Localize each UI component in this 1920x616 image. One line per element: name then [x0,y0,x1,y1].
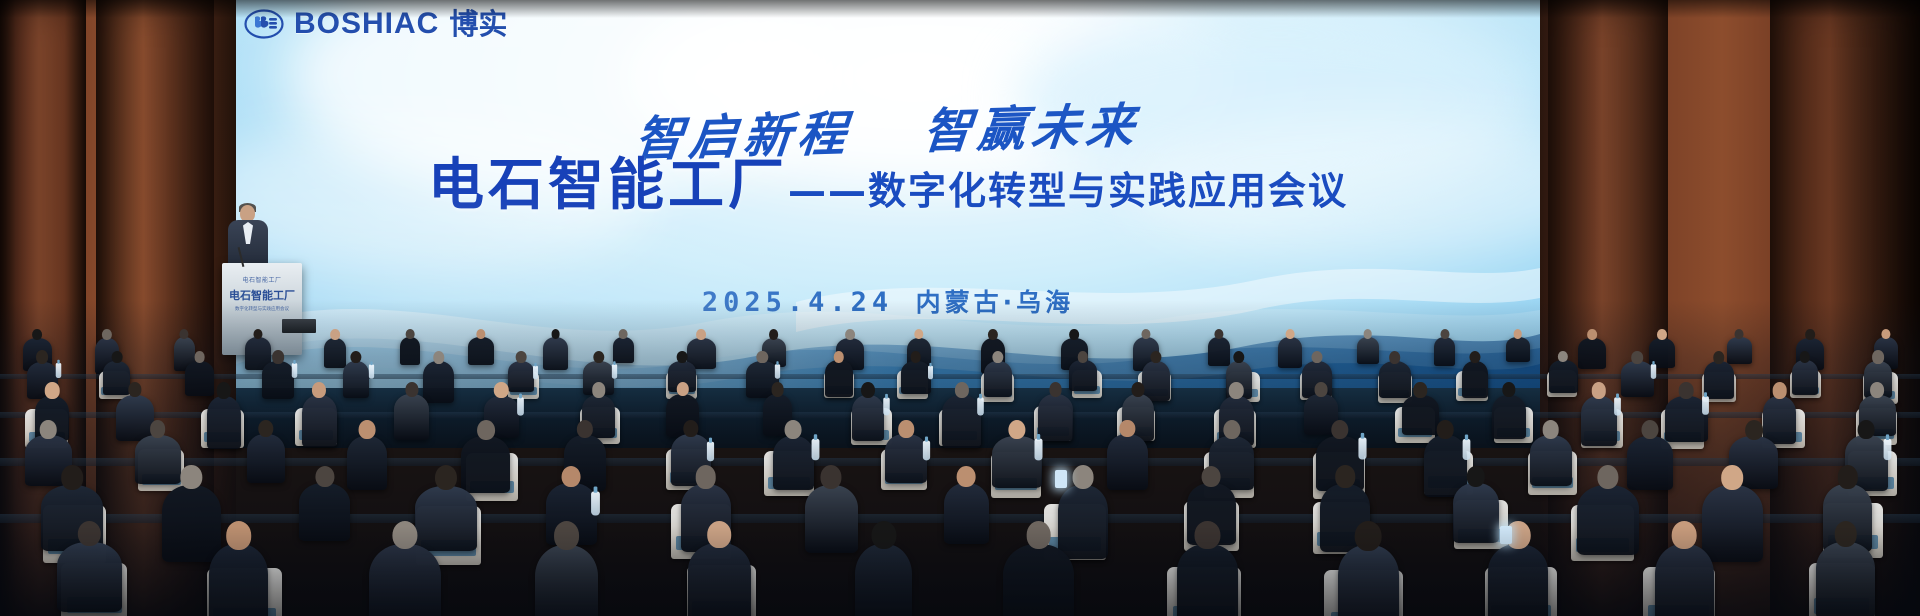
audience-member-head [78,521,100,546]
audience-member-head [350,351,361,364]
audience-member-head [562,466,581,487]
audience-member [1379,361,1412,398]
audience-member [1003,544,1074,616]
audience-member-head [1558,351,1568,363]
audience-member-head [1311,351,1322,363]
audience-member-head [1542,420,1559,439]
audience-member [343,361,369,398]
audience-member [369,544,441,616]
audience-member [855,544,912,616]
audience-member-head [129,382,142,397]
audience-member [1578,338,1605,369]
audience-member-head [1078,351,1088,363]
audience-member-head [102,329,112,341]
audience-member-head [1632,351,1644,364]
audience-member-head [494,382,508,398]
audience-member-head [785,420,802,439]
water-bottle [1651,364,1656,379]
audience-member-head [40,420,57,439]
audience-member [400,337,420,365]
audience-member-head [1331,420,1348,440]
audience-member-head [1713,351,1724,364]
event-subtitle: 数字化转型与实践应用会议 [868,172,1348,214]
audience-member-head [1641,420,1658,439]
audience-member [1577,485,1639,555]
audience-member [508,361,535,393]
audience-member-head [992,351,1003,364]
audience-member [209,544,268,616]
audience-member-head [593,351,604,364]
brand-latin-name: BOSHIAC [294,9,439,39]
audience-member [135,435,181,484]
audience-member-head [1223,420,1240,440]
audience-member-head [708,521,732,548]
audience-member-head [1837,465,1857,488]
audience-member [1453,483,1499,543]
audience-member-head [150,420,166,438]
audience-member [347,436,387,490]
audience-member-head [180,329,189,339]
audience-member-head [1437,420,1454,439]
audience-member-head [477,420,495,440]
audience-member-head [358,420,375,439]
audience-member-head [677,351,688,363]
audience-member-head [1131,382,1144,397]
water-bottle [1615,397,1622,415]
audience-member-head [695,465,716,488]
audience-member-head [910,351,921,363]
audience-member [262,361,294,398]
audience-member-head [111,351,122,363]
audience-member-head [1355,521,1382,551]
audience-member [852,395,884,440]
audience-member [1488,544,1548,616]
audience-member-head [676,382,688,396]
audience-member-head [32,329,42,340]
audience-member [57,542,122,612]
water-bottle [612,364,617,378]
water-bottle [591,491,600,515]
water-bottle [1463,439,1471,460]
audience-member-head [1800,351,1811,363]
slogan-part-2: 智赢未来 [921,98,1143,160]
audience-member-head [1858,420,1875,439]
audience-member-head [392,521,417,550]
audience-member-head [1870,382,1884,398]
audience-member-head [821,465,842,489]
audience-member [1038,394,1073,440]
audience-member-head [1026,521,1051,549]
audience-member-head [406,329,415,339]
podium-sign-line-1: 电石智能工厂 [228,275,296,284]
audience-member-head [1735,329,1744,339]
water-bottle [369,364,374,378]
audience-member-head [1805,329,1815,340]
water-bottle [56,363,62,378]
audience-member [942,395,981,448]
audience-member-head [226,521,252,550]
audience-member-head [1120,420,1135,437]
audience-member [805,485,858,553]
audience-member-head [312,382,326,398]
audience-member-head [914,329,923,340]
water-bottle [1884,439,1892,460]
audience-member [1581,396,1618,446]
audience-member-head [957,466,976,487]
audience-member-head [1414,382,1427,397]
audience-member-head [1389,351,1401,364]
audience-member-head [315,466,334,488]
audience-member-head [36,350,48,363]
conference-hall-scene: BOSHIAC 博实 智启新程 智赢未来 电石智能工厂 —— 数字化转型与实践应… [0,0,1920,616]
audience-member [162,485,221,562]
audience-member [1142,361,1170,401]
water-bottle [928,365,933,379]
audience-member [423,361,454,402]
audience-member-head [696,329,706,340]
audience-member-head [1141,329,1150,339]
audience-member-head [1229,382,1243,398]
audience-member [302,395,337,447]
audience-member [1208,337,1229,365]
water-bottle [1358,438,1366,460]
audience-member [613,337,634,363]
water-bottle [292,364,297,379]
audience-member [1816,542,1875,616]
audience-member-head [1315,382,1328,397]
audience-member [468,337,493,365]
audience-member-head [1772,382,1787,399]
water-bottle [977,397,984,415]
audience-member [1357,337,1379,364]
audience-member-head [330,329,340,340]
audience-member-head [435,465,457,490]
brand-chinese-name: 博实 [449,10,507,39]
audience-member-head [1834,521,1857,547]
audience-member-head [1008,420,1025,440]
water-bottle [883,398,890,416]
water-bottle [517,397,524,415]
audience-member-head [405,382,418,397]
audience-member-head [516,351,527,363]
audience-member-head [592,382,606,397]
audience-member-head [433,351,444,364]
audience-member [1627,436,1673,491]
audience-member [415,486,477,551]
audience-member [1462,361,1487,398]
audience-member-head [619,329,628,339]
audience-member [207,396,241,449]
audience-member [1530,435,1572,486]
audience-member-head [1513,329,1522,339]
audience-member-head [1214,329,1223,339]
audience-member-head [1467,466,1485,487]
water-bottle [1035,438,1043,460]
audience-member-head [1073,465,1094,489]
audience-member-head [194,351,205,363]
audience-member [1702,485,1762,562]
audience-member [461,436,510,493]
audience-member [1727,337,1751,364]
audience-member-head [898,420,914,438]
audience-member-head [181,465,202,489]
audience-member-head [834,351,845,363]
audience-member [1763,396,1796,444]
phone-screen-glow [1500,526,1512,544]
audience-member-head [771,382,784,397]
event-title-dash: —— [788,172,868,214]
audience-member [1506,337,1530,363]
audience-member-head [554,521,580,550]
audience-member-head [1151,351,1162,364]
audience-member-head [477,329,486,340]
audience-member-head [577,420,593,438]
audience-member [901,361,931,395]
water-bottle [1702,397,1709,416]
audience-member-head [1195,521,1220,549]
audience-member-head [1881,329,1890,339]
audience-member-head [988,329,998,341]
audience-member-head [683,420,698,437]
presenter-figure [228,205,268,267]
audience-member-head [769,329,779,340]
audience-member [1338,545,1399,616]
audience-member-head [1722,465,1744,489]
audience-member-head [1049,382,1062,397]
audience-member-head [1657,329,1667,340]
audience-member [773,436,814,491]
audience-member [103,361,130,395]
audience-member [1058,485,1108,559]
audience-member [944,483,989,544]
audience-member [394,394,429,439]
audience-member-head [1872,350,1884,363]
water-bottle [533,365,538,379]
audience-member-head [1502,382,1515,397]
audience-member [185,361,214,396]
audience-member-head [1469,351,1480,364]
water-bottle [775,364,780,378]
audience-member-head [551,329,560,339]
audience-area [0,300,1920,616]
audience-member-head [1070,329,1080,340]
audience-member [1402,395,1439,435]
brand-logo: BOSHIAC 博实 [244,2,507,46]
audience-member-head [45,382,60,398]
audience-member [1792,360,1819,395]
audience-member [1492,395,1526,439]
audience-member [324,338,346,369]
audience-member [1621,361,1655,397]
audience-member-head [871,521,896,549]
audience-member-head [1440,329,1449,339]
audience-member-head [1335,465,1355,487]
audience-member-head [258,420,273,437]
slogan-gap [873,149,899,150]
audience-member-head [1363,329,1372,339]
audience-member [535,545,598,616]
audience-member [1549,360,1578,393]
audience-member [247,434,285,483]
audience-member [1069,360,1096,391]
water-bottle [811,439,819,460]
audience-member [1434,337,1456,366]
audience-member-head [1202,466,1221,487]
audience-member-head [1592,382,1606,398]
phone-screen-glow [1055,470,1067,488]
audience-member-head [1587,329,1597,340]
audience-member-head [1597,465,1618,489]
audience-member-head [1672,521,1697,549]
audience-member-head [272,350,284,363]
boshiac-b-monogram-icon [244,9,284,39]
audience-member-head [1286,329,1295,339]
water-bottle [707,441,714,460]
audience-member-head [1745,420,1763,440]
audience-member [1177,544,1239,616]
audience-member [299,483,350,541]
audience-member [825,360,853,397]
audience-member [885,434,926,483]
audience-member-head [217,382,232,399]
audience-member [1704,361,1734,399]
audience-member [116,395,154,442]
audience-member [984,361,1012,397]
audience-member-head [955,382,969,398]
water-bottle [923,441,930,461]
audience-member-head [756,351,767,364]
audience-member [1655,544,1714,616]
audience-member [1107,434,1148,490]
audience-member-head [253,329,262,339]
audience-member-head [845,329,855,340]
audience-member-head [61,465,83,489]
audience-member-head [1233,351,1244,364]
audience-member-head [861,382,875,398]
audience-member [1278,337,1302,368]
event-main-title: 电石智能工厂 [428,158,788,214]
event-title-row: 电石智能工厂 —— 数字化转型与实践应用会议 [236,158,1540,214]
audience-member [543,337,569,370]
audience-member [688,543,751,616]
audience-member-head [1679,382,1694,399]
